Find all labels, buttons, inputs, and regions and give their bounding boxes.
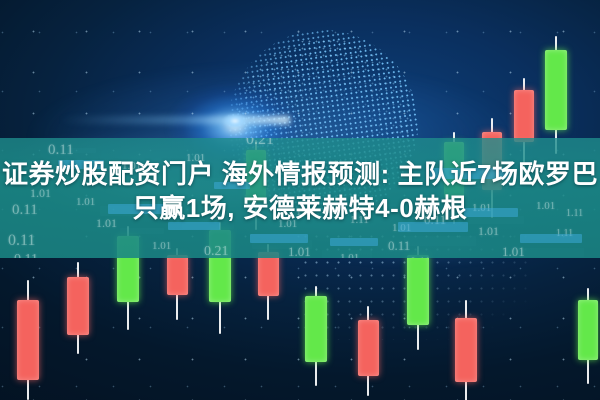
candle-body <box>578 300 598 360</box>
candle-body <box>455 318 477 382</box>
headline-line-1: 证券炒股配资门户 海外情报预测: 主队近7场欧罗巴 <box>0 158 600 192</box>
candle-body <box>167 255 188 295</box>
candle-body <box>358 320 379 376</box>
candle-body <box>545 50 567 130</box>
candle-body <box>407 255 429 325</box>
candlestick-down <box>358 306 379 396</box>
headline-line-2: 只赢1场, 安德莱赫特4-0赫根 <box>0 192 600 226</box>
candlestick-down <box>455 300 477 400</box>
candle-body <box>17 300 39 380</box>
candlestick-up <box>578 288 598 384</box>
candlestick-down <box>17 280 39 400</box>
candlestick-down <box>67 262 89 354</box>
candle-body <box>305 296 327 362</box>
headline-block: 证券炒股配资门户 海外情报预测: 主队近7场欧罗巴 只赢1场, 安德莱赫特4-0… <box>0 158 600 226</box>
candle-body <box>258 252 279 296</box>
candlestick-up <box>305 286 327 386</box>
banner-image: 0.110.110.211.010.111.011.010.110.111.01… <box>0 0 600 400</box>
candlestick-up <box>407 246 429 350</box>
candle-body <box>67 277 89 335</box>
candle-body <box>514 90 534 142</box>
candlestick-up <box>545 36 567 154</box>
candlestick-down <box>167 248 188 320</box>
